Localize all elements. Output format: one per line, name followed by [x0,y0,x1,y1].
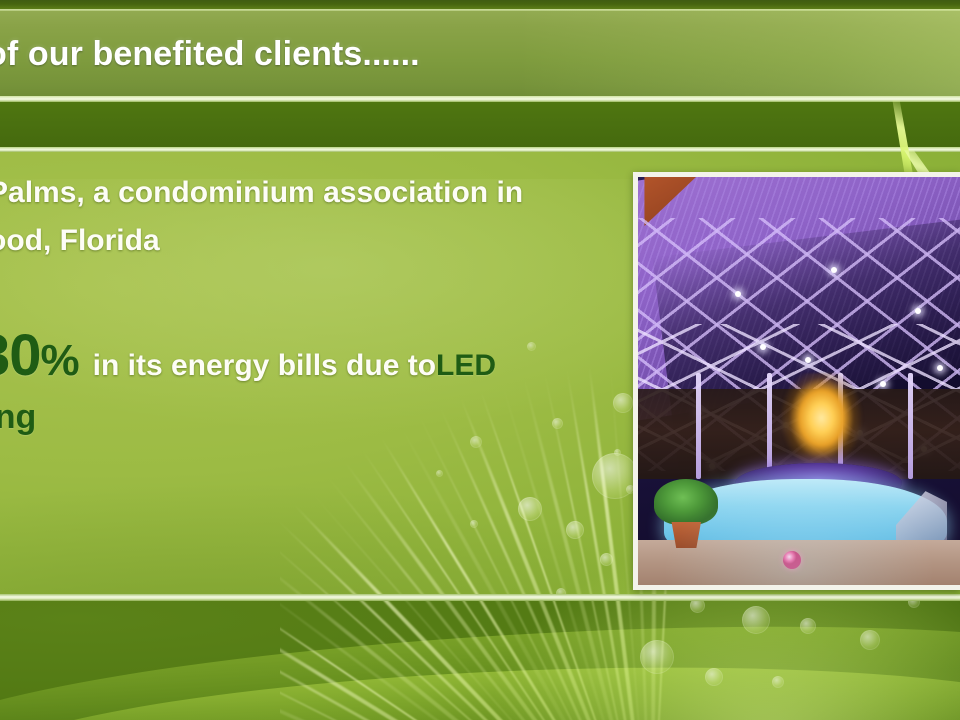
footer-divider-rule [0,594,960,601]
pool-enclosure-photo [638,177,960,585]
header-divider-rule [0,96,960,102]
savings-text: in its energy bills due to [93,349,436,383]
body-line-location-2: ood, Florida [0,224,160,258]
dark-accent-band [0,102,960,147]
savings-stat-value: 30 [0,323,41,388]
photo-led-point-light [805,357,811,363]
photo-frame [633,172,960,590]
photo-led-point-light [831,267,837,273]
top-edge-strip [0,0,960,9]
slide-canvas: of our benefited clients...... Palms, a … [0,0,960,720]
footer-band [0,601,960,720]
body-line-savings: 30% in its energy bills due to LED [0,330,496,383]
photo-led-point-light [880,381,886,387]
body-line-lighting: ting [0,398,36,437]
body-line-location-1: Palms, a condominium association in [0,176,523,210]
led-keyword: LED [436,349,496,383]
header-bar: of our benefited clients...... [0,9,960,98]
header-title: of our benefited clients...... [0,35,420,74]
photo-led-point-light [735,291,741,297]
savings-stat: 30% [0,330,79,382]
percent-sign: % [41,336,79,385]
band-divider-rule [0,147,960,152]
photo-water-glow [638,430,960,585]
photo-led-point-light [915,308,921,314]
